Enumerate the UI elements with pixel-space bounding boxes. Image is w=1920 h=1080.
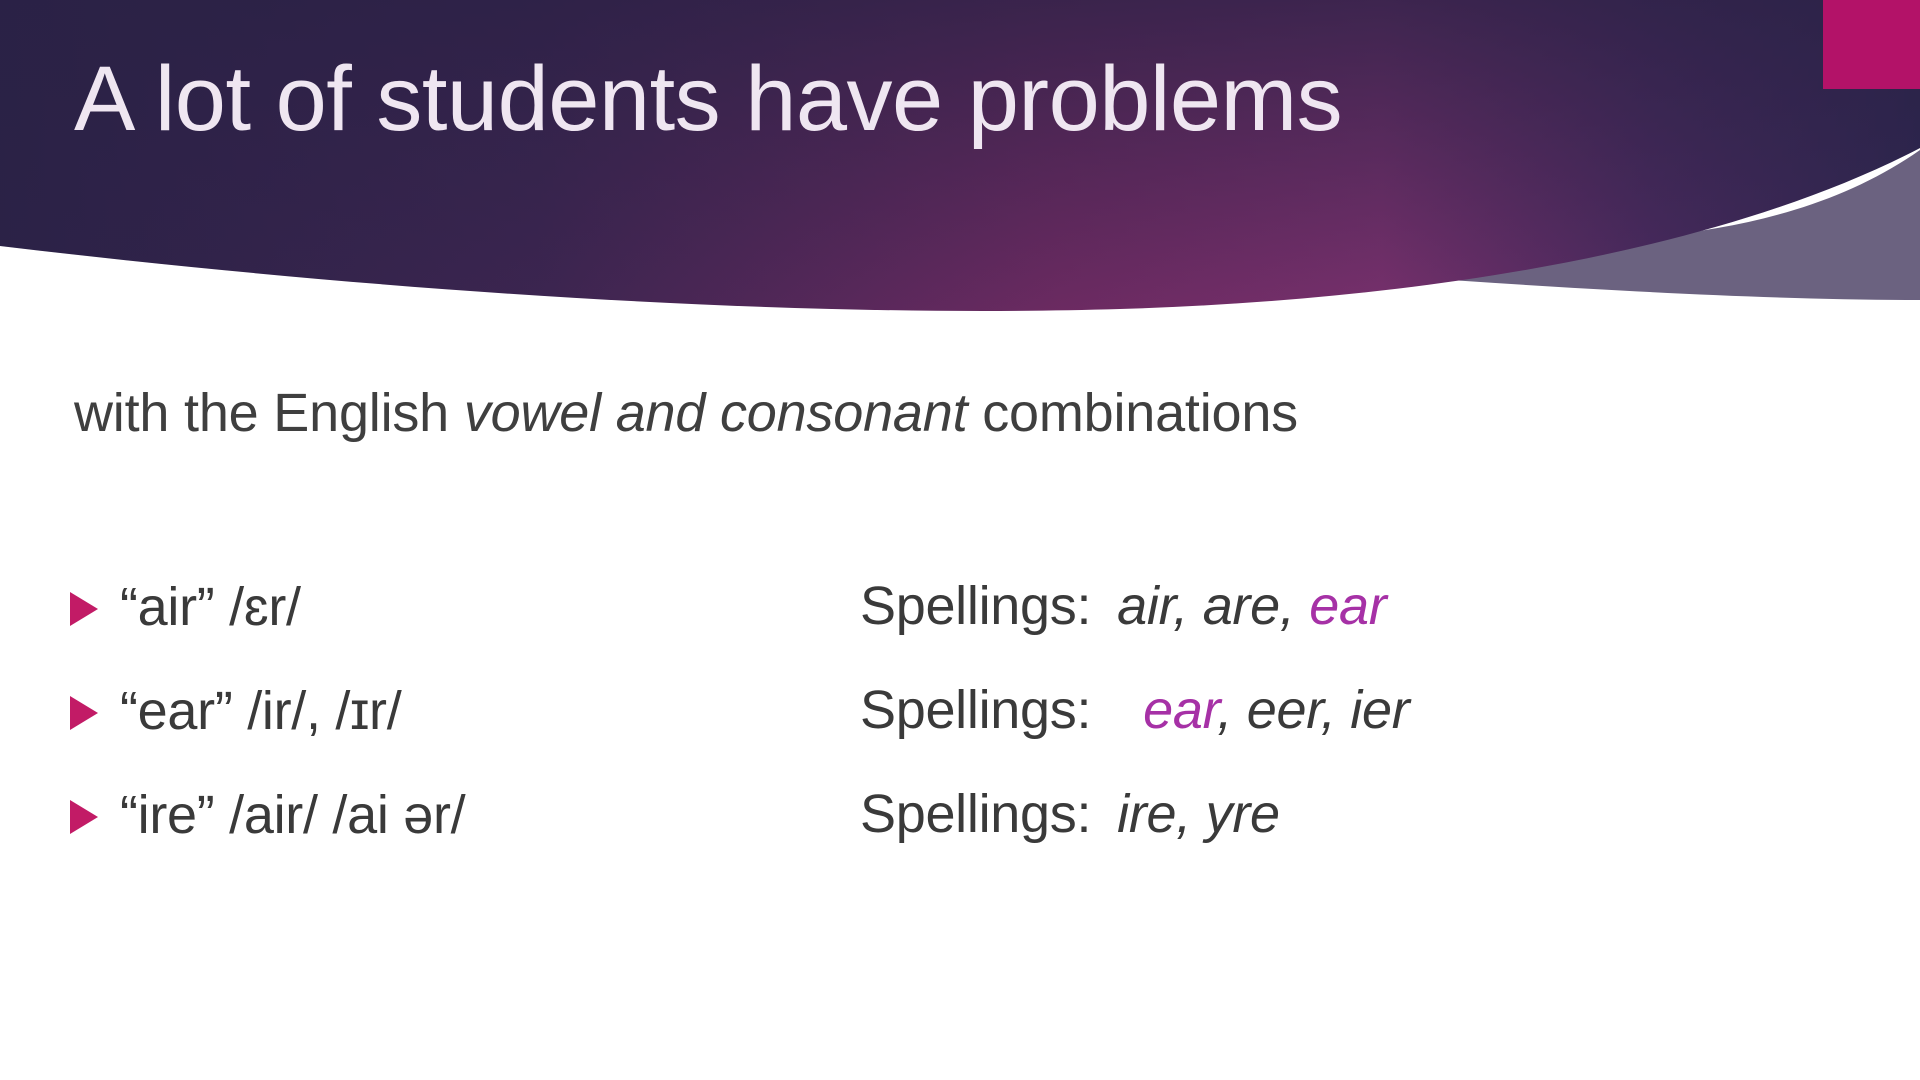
slide-header-banner: A lot of students have problems (0, 0, 1920, 330)
list-item-spellings: Spellings:air, are, ear (860, 575, 1386, 637)
slide-subtitle: with the English vowel and consonant com… (74, 382, 1298, 444)
list-item-term-group: “air” /ɛr/ (70, 576, 860, 638)
spellings-plain-1: ire, yre (1117, 784, 1280, 844)
list-item-term: “ear” /ir/, /ɪr/ (120, 680, 401, 742)
subtitle-text-emphasis: vowel and consonant (464, 383, 968, 443)
spellings-label: Spellings: (860, 576, 1091, 636)
list-item-term-group: “ire” /air/ /ai ər/ (70, 784, 860, 846)
list-item: “air” /ɛr/ Spellings:air, are, ear (70, 575, 1770, 679)
subtitle-text-after: combinations (967, 383, 1298, 443)
page-title: A lot of students have problems (74, 48, 1834, 151)
spellings-label: Spellings: (860, 784, 1091, 844)
list-item-spellings: Spellings:ire, yre (860, 783, 1280, 845)
spellings-plain-1: air, are, (1117, 576, 1309, 636)
spellings-highlight: ear (1309, 576, 1386, 636)
list-item-spellings: Spellings:ear, eer, ier (860, 679, 1409, 741)
presentation-slide: A lot of students have problems with the… (0, 0, 1920, 1080)
spellings-plain-2: , eer, ier (1217, 680, 1409, 740)
list-item-term: “air” /ɛr/ (120, 576, 301, 638)
list-item: “ire” /air/ /ai ər/ Spellings:ire, yre (70, 783, 1770, 887)
triangle-right-icon (70, 592, 98, 626)
spellings-highlight: ear (1143, 680, 1217, 740)
triangle-right-icon (70, 800, 98, 834)
list-item-term: “ire” /air/ /ai ər/ (120, 784, 465, 846)
list-item-term-group: “ear” /ir/, /ɪr/ (70, 680, 860, 742)
spellings-label: Spellings: (860, 680, 1091, 740)
list-item: “ear” /ir/, /ɪr/ Spellings:ear, eer, ier (70, 679, 1770, 783)
spelling-list: “air” /ɛr/ Spellings:air, are, ear “ear”… (70, 575, 1770, 887)
corner-accent-block (1823, 0, 1920, 89)
triangle-right-icon (70, 696, 98, 730)
subtitle-text-before: with the English (74, 383, 464, 443)
